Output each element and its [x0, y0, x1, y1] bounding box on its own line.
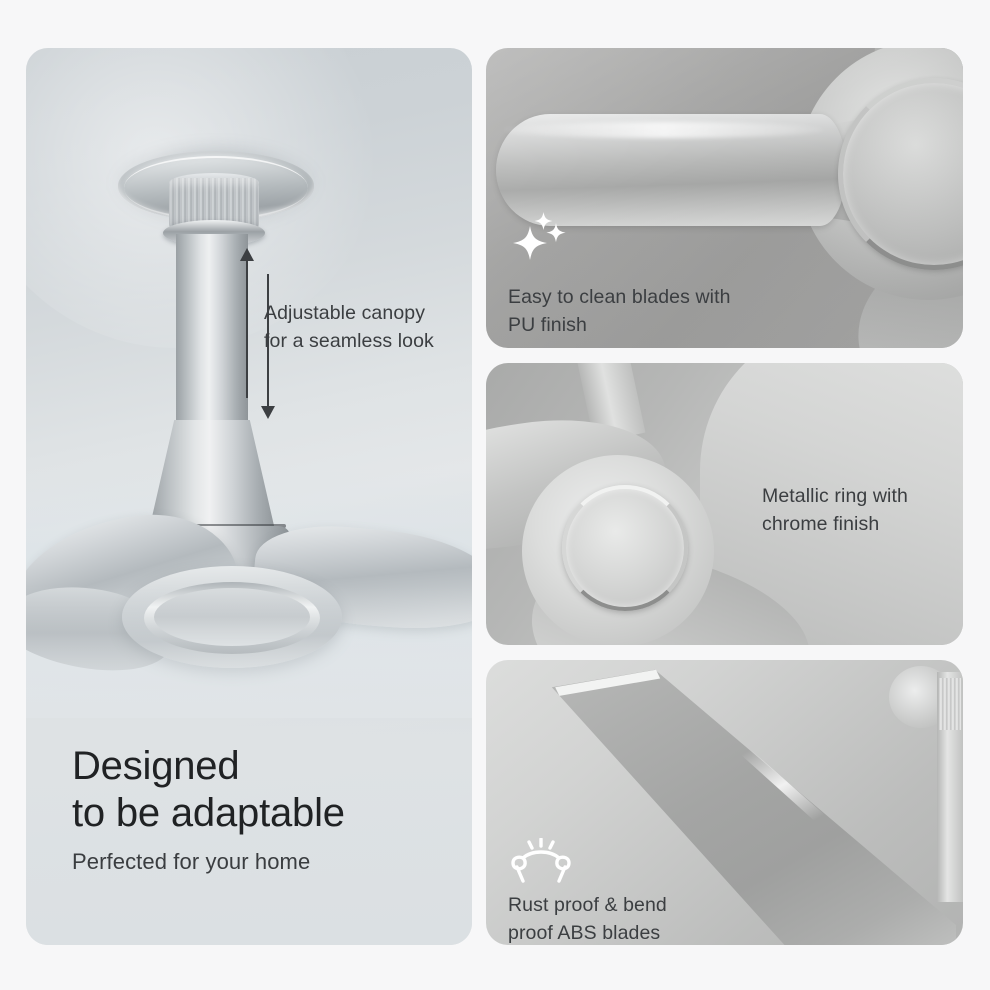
motor-cone	[149, 420, 275, 530]
bend-blade-icon	[508, 838, 574, 884]
canopy-annotation-line1: Adjustable canopy	[264, 300, 434, 328]
panel-rust-proof: Rust proof & bend proof ABS blades	[486, 660, 963, 945]
subheadline: Perfected for your home	[72, 849, 345, 875]
canopy-annotation: Adjustable canopy for a seamless look	[264, 300, 434, 355]
downrod	[176, 234, 248, 424]
metallic-ring-caption-line2: chrome finish	[762, 511, 908, 539]
sparkle-icon	[508, 212, 570, 268]
rust-proof-caption-line1: Rust proof & bend	[508, 892, 667, 920]
headline-line2: to be adaptable	[72, 790, 345, 837]
easy-clean-caption-line1: Easy to clean blades with	[508, 284, 731, 312]
panel-adjustable-canopy: Adjustable canopy for a seamless look De…	[26, 48, 472, 945]
easy-clean-caption-line2: PU finish	[508, 312, 731, 340]
panel-metallic-ring: Metallic ring with chrome finish	[486, 363, 963, 645]
downrod-ribbed-collar	[939, 678, 961, 730]
product-feature-collage: Adjustable canopy for a seamless look De…	[0, 0, 990, 990]
metallic-ring-caption-line1: Metallic ring with	[762, 483, 908, 511]
metallic-ring-caption: Metallic ring with chrome finish	[762, 483, 908, 538]
headline-block: Designed to be adaptable Perfected for y…	[72, 743, 345, 875]
up-arrow-shaft	[246, 258, 248, 398]
rust-proof-caption-line2: proof ABS blades	[508, 920, 667, 945]
easy-clean-caption: Easy to clean blades with PU finish	[508, 284, 731, 339]
rust-proof-caption: Rust proof & bend proof ABS blades	[508, 892, 667, 945]
panel-easy-to-clean: Easy to clean blades with PU finish	[486, 48, 963, 348]
chrome-ring	[562, 485, 688, 611]
headline-line1: Designed	[72, 743, 345, 790]
canopy-annotation-line2: for a seamless look	[264, 328, 434, 356]
down-arrow-icon	[261, 406, 275, 419]
